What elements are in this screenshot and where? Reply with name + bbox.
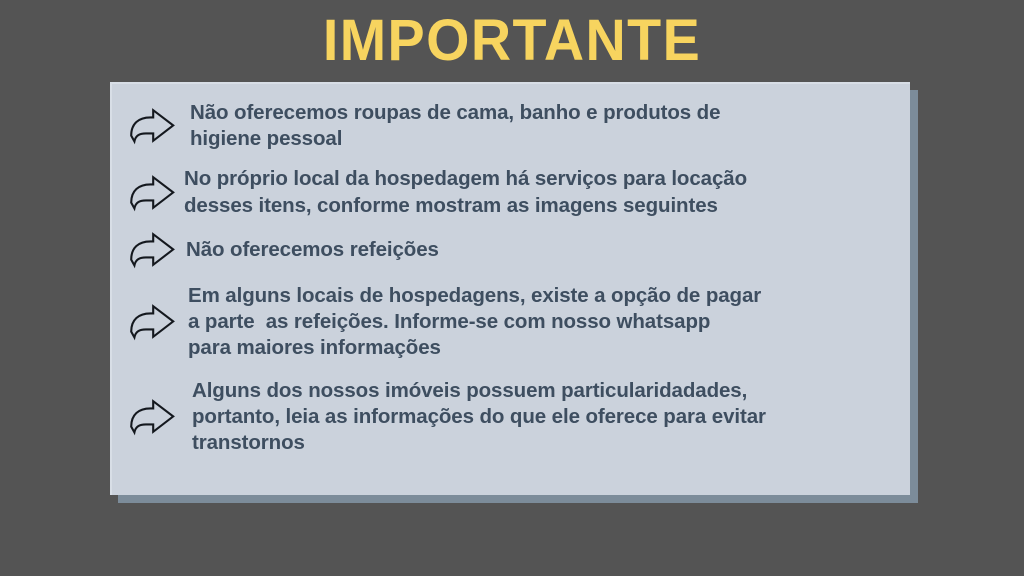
list-item: Não oferecemos refeições: [128, 231, 902, 269]
list-item-label: Em alguns locais de hospedagens, existe …: [184, 283, 902, 362]
list-item: Não oferecemos roupas de cama, banho e p…: [128, 100, 902, 152]
list-item: Alguns dos nossos imóveis possuem partic…: [128, 378, 902, 457]
curved-tail-right-arrow-icon: [128, 398, 184, 436]
list-item-label: Não oferecemos roupas de cama, banho e p…: [184, 100, 902, 152]
list-item: No próprio local da hospedagem há serviç…: [128, 166, 902, 218]
curved-tail-right-arrow-icon: [128, 303, 184, 341]
curved-tail-right-arrow-icon: [128, 107, 184, 145]
bullet-list: Não oferecemos roupas de cama, banho e p…: [128, 98, 902, 468]
list-item-label: No próprio local da hospedagem há serviç…: [184, 166, 902, 218]
content-card: Não oferecemos roupas de cama, banho e p…: [110, 82, 910, 495]
list-item-label: Não oferecemos refeições: [184, 237, 902, 263]
list-item: Em alguns locais de hospedagens, existe …: [128, 283, 902, 362]
page-title: IMPORTANTE: [20, 11, 1003, 72]
curved-tail-right-arrow-icon: [128, 231, 184, 269]
curved-tail-right-arrow-icon: [128, 174, 184, 212]
slide-canvas: IMPORTANTE Não oferecemos roupas de cama…: [0, 0, 1024, 576]
list-item-label: Alguns dos nossos imóveis possuem partic…: [184, 378, 902, 457]
